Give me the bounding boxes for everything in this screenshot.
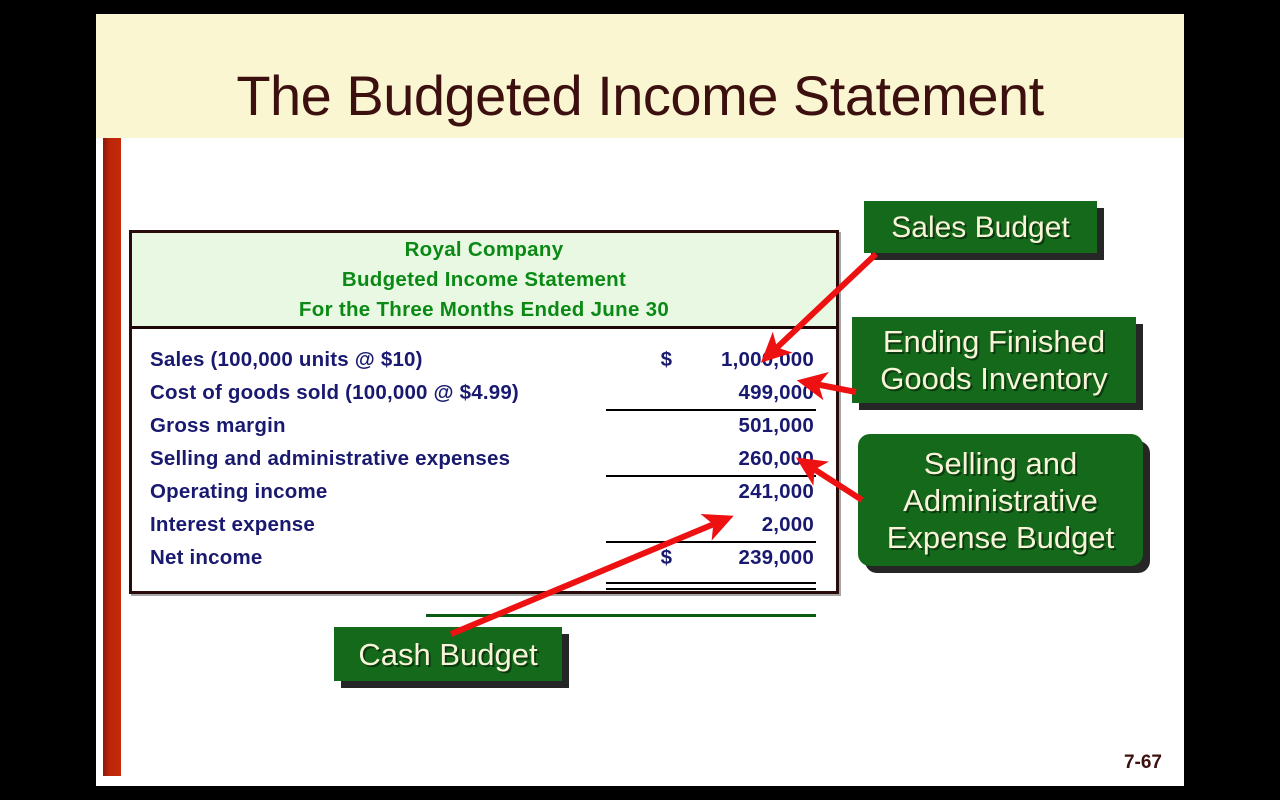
row-label: Net income [150, 546, 263, 570]
table-row: Selling and administrative expenses 260,… [132, 442, 836, 475]
row-label: Cost of goods sold (100,000 @ $4.99) [150, 381, 519, 405]
callout-label: Cash Budget [358, 636, 537, 673]
row-label: Interest expense [150, 513, 315, 537]
row-value: 2,000 [664, 513, 814, 537]
callout-sales-budget[interactable]: Sales Budget [864, 201, 1097, 253]
table-row: Sales (100,000 units @ $10) $ 1,000,000 [132, 343, 836, 376]
callout-label-line1: Selling and [924, 445, 1077, 482]
table-row: Gross margin 501,000 [132, 409, 836, 442]
row-value: 1,000,000 [664, 348, 814, 372]
statement-body: Sales (100,000 units @ $10) $ 1,000,000 … [132, 329, 836, 574]
row-value: 501,000 [664, 414, 814, 438]
statement-period: For the Three Months Ended June 30 [299, 295, 669, 325]
row-label: Gross margin [150, 414, 286, 438]
slide-number: 7-67 [1124, 752, 1162, 774]
callout-selling-administrative-expense-budget[interactable]: Selling and Administrative Expense Budge… [858, 434, 1143, 566]
table-row: Net income $ 239,000 [132, 541, 836, 574]
callout-ending-finished-goods-inventory[interactable]: Ending Finished Goods Inventory [852, 317, 1136, 403]
screenshot-stage: The Budgeted Income Statement Royal Comp… [0, 0, 1280, 800]
row-value: 499,000 [664, 381, 814, 405]
accent-bar [103, 138, 121, 776]
table-row: Interest expense 2,000 [132, 508, 836, 541]
row-label: Selling and administrative expenses [150, 447, 510, 471]
callout-label-line3: Expense Budget [887, 519, 1115, 556]
callout-label: Sales Budget [891, 209, 1069, 246]
statement-company-name: Royal Company [405, 235, 564, 265]
slide-canvas: The Budgeted Income Statement Royal Comp… [96, 14, 1184, 786]
title-band: The Budgeted Income Statement [96, 14, 1184, 138]
green-divider-line [426, 614, 816, 617]
row-value: 241,000 [664, 480, 814, 504]
statement-report-title: Budgeted Income Statement [342, 265, 626, 295]
row-value: 239,000 [664, 546, 814, 570]
table-row: Operating income 241,000 [132, 475, 836, 508]
callout-label-line2: Administrative [903, 482, 1098, 519]
callout-cash-budget[interactable]: Cash Budget [334, 627, 562, 681]
row-value: 260,000 [664, 447, 814, 471]
callout-label-line2: Goods Inventory [880, 360, 1107, 397]
row-label: Sales (100,000 units @ $10) [150, 348, 423, 372]
page-title: The Budgeted Income Statement [96, 66, 1184, 126]
budgeted-income-statement-table: Royal Company Budgeted Income Statement … [129, 230, 839, 594]
statement-header: Royal Company Budgeted Income Statement … [132, 233, 836, 329]
callout-label-line1: Ending Finished [883, 323, 1105, 360]
table-row: Cost of goods sold (100,000 @ $4.99) 499… [132, 376, 836, 409]
row-label: Operating income [150, 480, 327, 504]
